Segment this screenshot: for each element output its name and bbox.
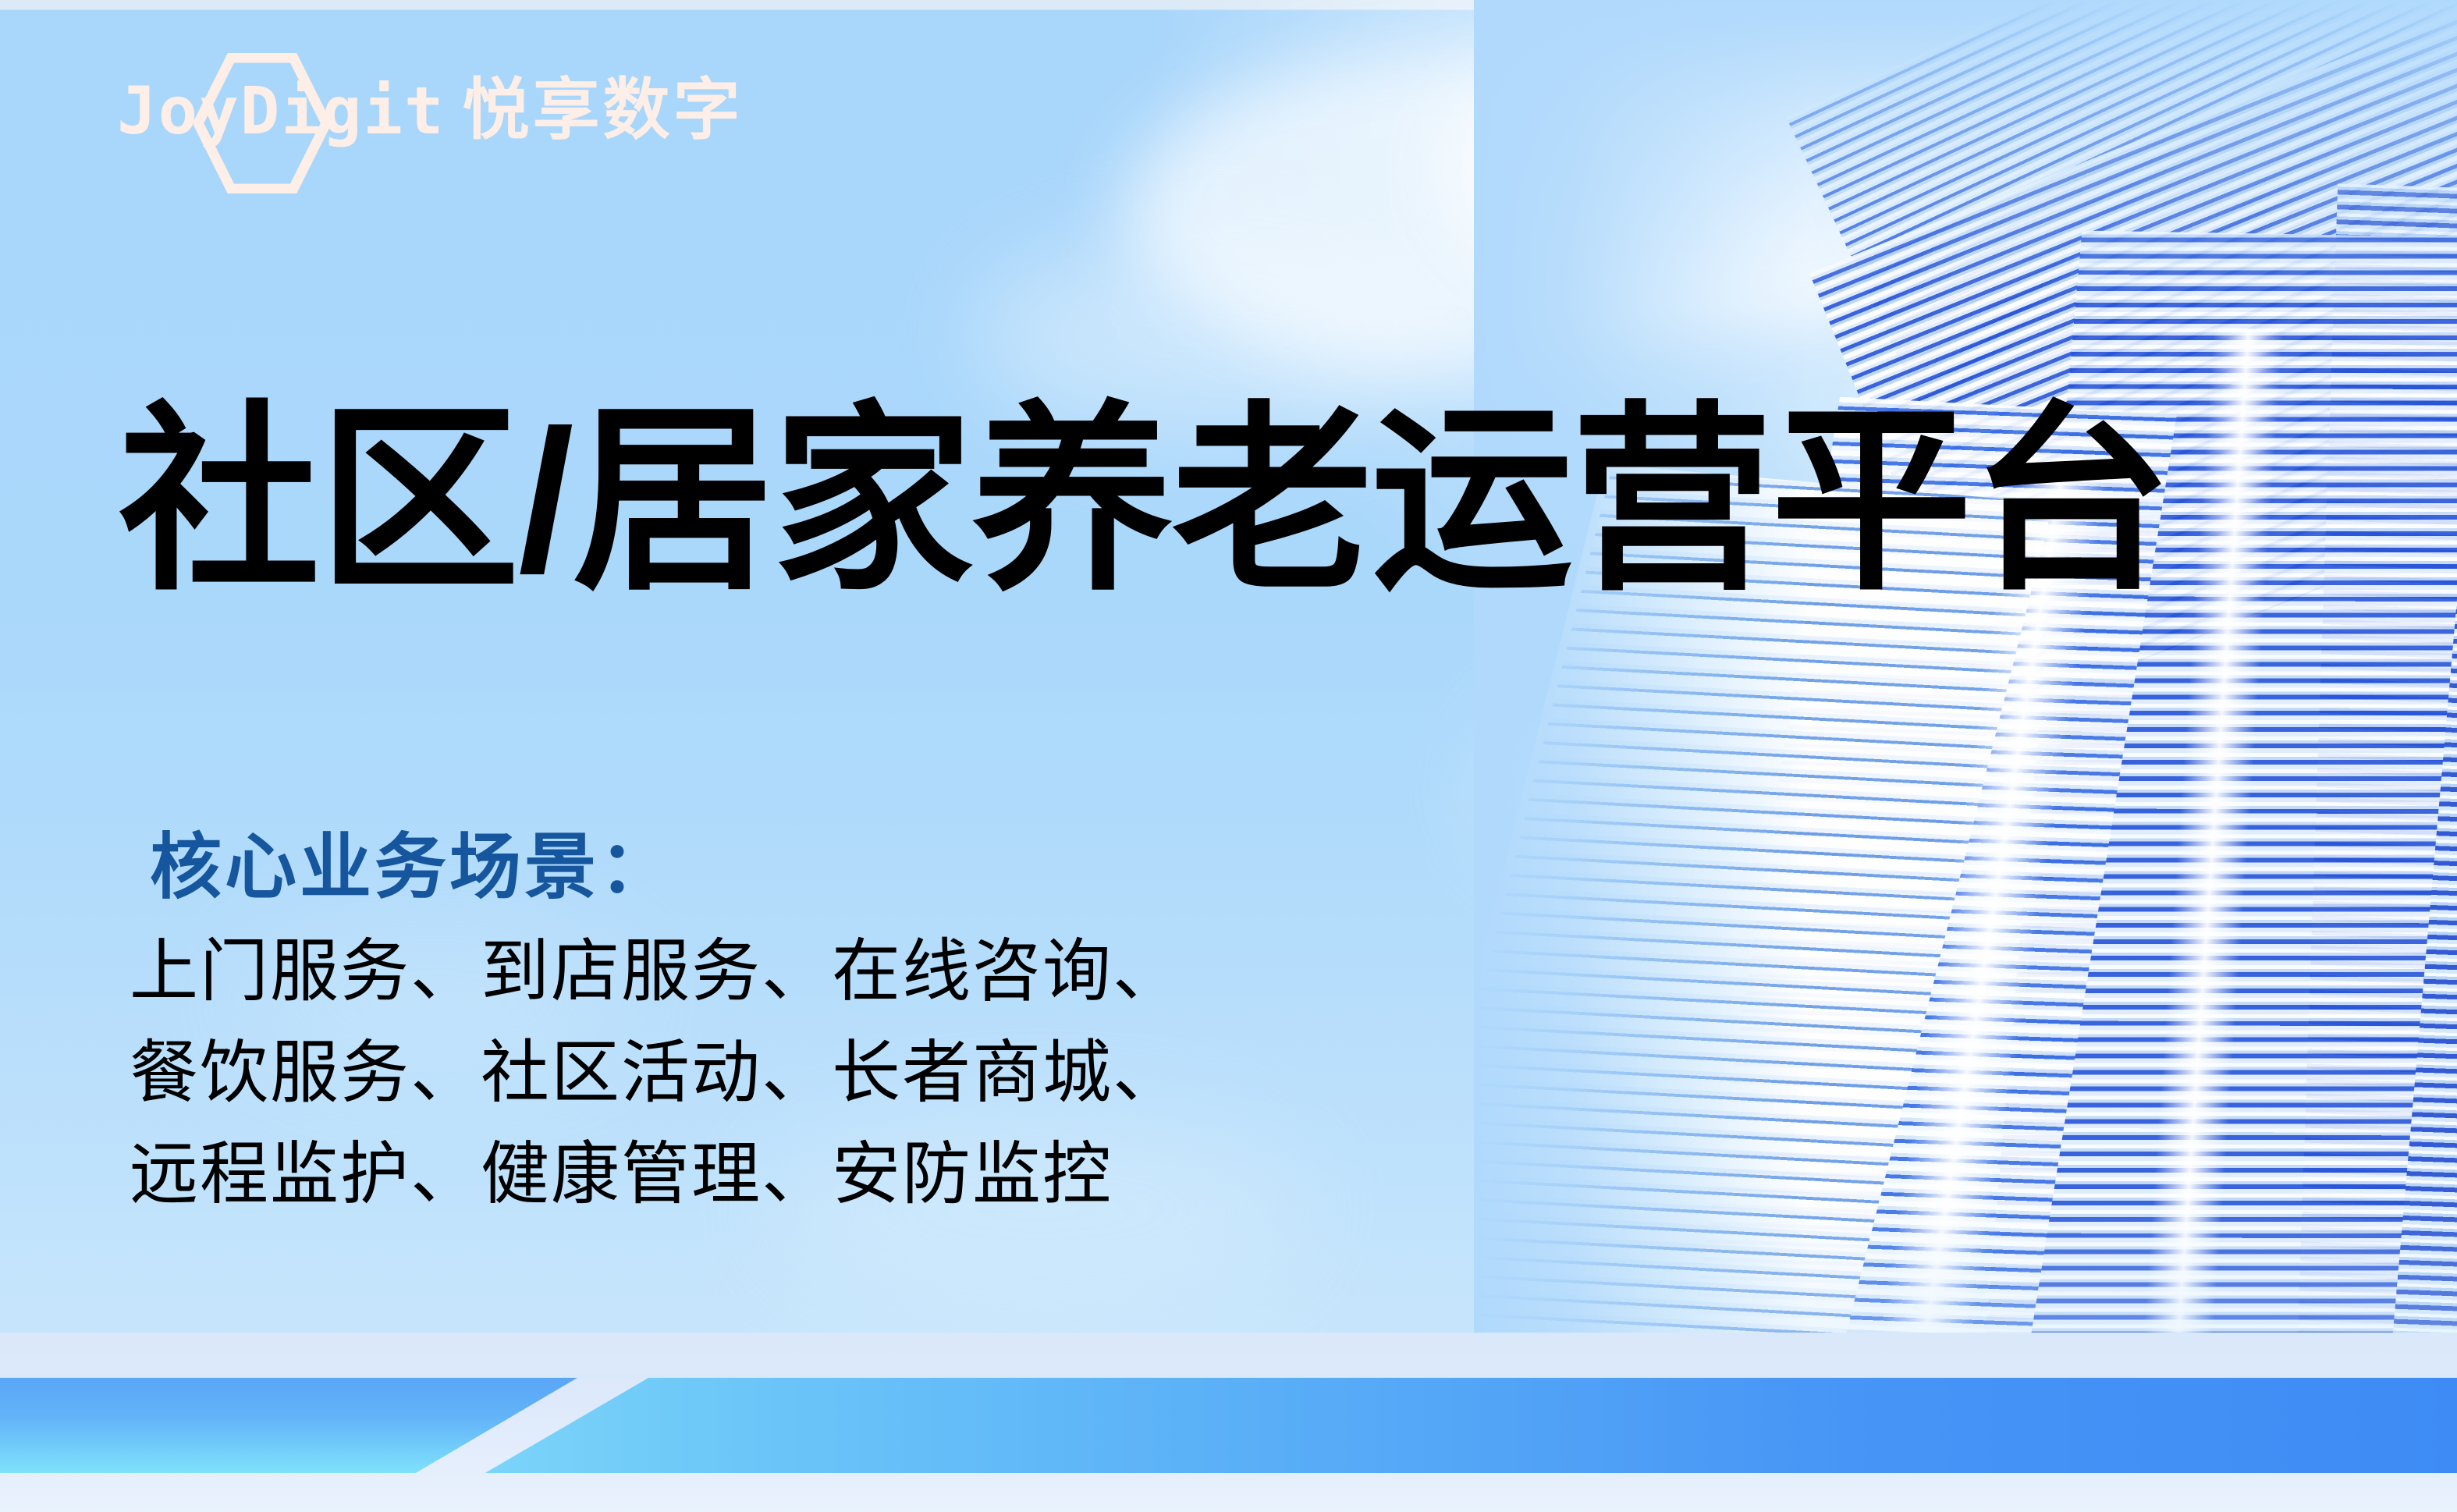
scenario-line: 餐饮服务、社区活动、长者商城、 (130, 1022, 1612, 1123)
sky-highlight-wash (0, 0, 2457, 1512)
scenario-line: 上门服务、到店服务、在线咨询、 (130, 921, 1612, 1022)
scenario-list: 上门服务、到店服务、在线咨询、 餐饮服务、社区活动、长者商城、 远程监护、健康管… (130, 921, 1612, 1226)
brand-wordmark: JoyDigit 悦享数字 (117, 76, 744, 144)
brand-logo[interactable]: JoyDigit 悦享数字 (117, 41, 710, 197)
page-title: 社区/居家养老运营平台 (119, 392, 2171, 610)
slide-canvas: JoyDigit 悦享数字 社区/居家养老运营平台 核心业务场景： 上门服务、到… (0, 0, 2457, 1512)
bottom-ribbon (0, 1333, 2457, 1512)
brand-name-latin: JoyDigit (117, 78, 446, 144)
brand-name-cn: 悦享数字 (463, 76, 744, 144)
ribbon-right-shape (414, 1378, 2457, 1473)
section-heading: 核心业务场景： (150, 829, 674, 907)
scenario-line: 远程监护、健康管理、安防监控 (130, 1123, 1612, 1225)
